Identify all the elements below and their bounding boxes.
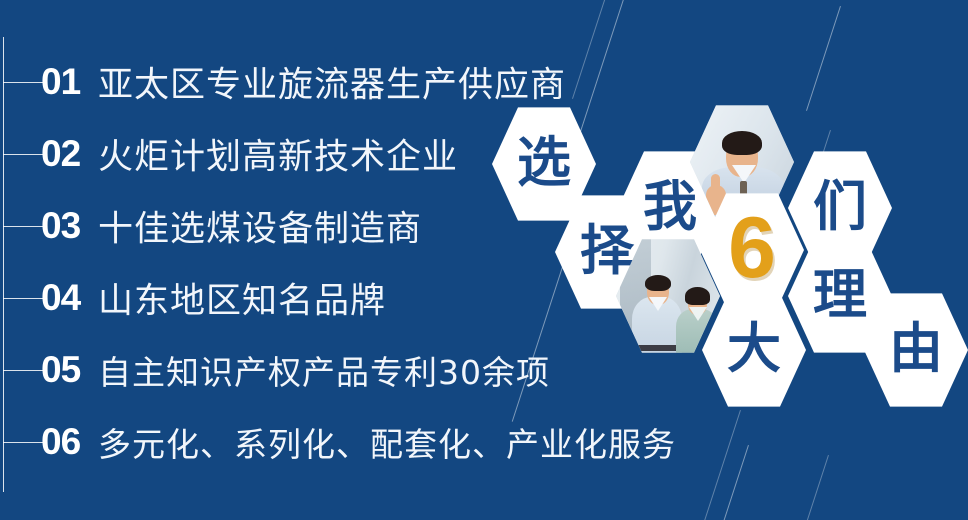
figure-collar — [689, 307, 707, 321]
hex-glyph: 择 — [580, 224, 634, 278]
hex-glyph: 由 — [889, 322, 943, 376]
hex-glyph: 大 — [727, 322, 781, 376]
figure-man — [632, 269, 682, 355]
hex-cell-da: 大 — [702, 291, 806, 409]
hex-glyph: 我 — [643, 180, 697, 234]
hex-glyph: 们 — [813, 180, 867, 234]
hexagon-headline-cluster: 选 择 我 — [0, 0, 968, 520]
banner-canvas: 01 亚太区专业旋流器生产供应商 02 火炬计划高新技术企业 03 十佳选煤设备… — [0, 0, 968, 520]
figure-thumb — [711, 174, 720, 191]
figure-hair — [722, 131, 762, 155]
figure-collar — [649, 297, 667, 311]
figure-hair — [645, 275, 671, 291]
hex-glyph-number: 6 — [728, 205, 776, 291]
hex-glyph: 选 — [517, 136, 571, 190]
hex-glyph: 理 — [813, 268, 867, 322]
figure-belt — [634, 345, 680, 351]
figure-hair — [685, 287, 710, 305]
